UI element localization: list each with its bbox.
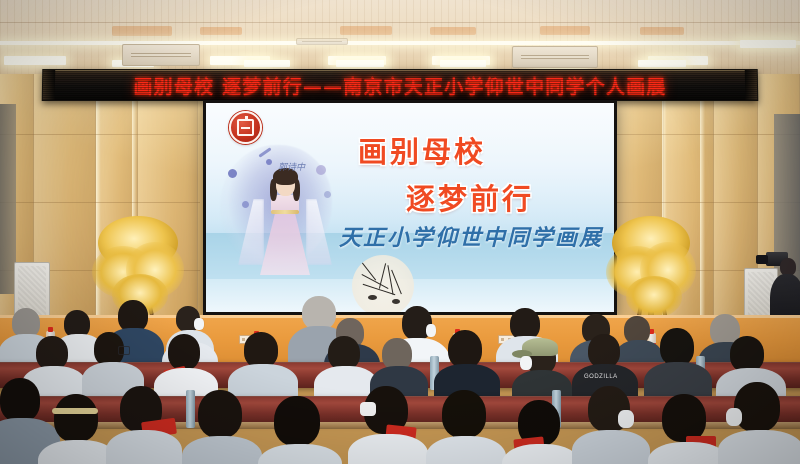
ceiling-warm-reflection: [200, 27, 242, 35]
seat-divider: [186, 390, 195, 428]
person-head: [448, 330, 482, 368]
face-mask: [726, 408, 742, 426]
ceiling-ac-vent: [122, 44, 200, 66]
person-body: [258, 444, 342, 464]
face-mask: [194, 318, 204, 330]
ceiling-light-strip: [0, 41, 800, 45]
led-frame-left: [43, 70, 56, 100]
person-body: [106, 430, 182, 464]
ceiling-light-panel: [440, 60, 486, 67]
shirt-text: GODZILLA: [584, 374, 618, 380]
camera-lens: [756, 255, 768, 264]
hair-band: [52, 408, 98, 414]
person-head: [660, 328, 694, 366]
face-mask: [426, 324, 436, 337]
gown-skirt: [260, 205, 310, 275]
wood-seam: [0, 134, 200, 135]
ceiling-light-panel: [336, 60, 384, 67]
hair-clip: [360, 402, 376, 416]
person-head: [442, 390, 486, 438]
wood-seam: [0, 202, 200, 203]
face-mask: [618, 410, 634, 428]
ceiling-light-panel: [244, 60, 290, 67]
led-banner-text: 画别母校 逐梦前行——南京市天正小学仰世中同学个人画展: [133, 72, 666, 99]
eyeglasses: [118, 346, 130, 355]
person-head: [198, 390, 242, 438]
person-body: [426, 436, 506, 464]
person-body: [182, 436, 262, 464]
ceiling-warm-reflection: [112, 26, 172, 36]
person-head: [662, 394, 706, 442]
school-emblem: [229, 111, 262, 144]
person-head: [734, 382, 780, 432]
ceiling-ac-vent: [512, 46, 598, 68]
person-head: [54, 394, 98, 442]
led-banner: 画别母校 逐梦前行——南京市天正小学仰世中同学个人画展: [42, 69, 759, 101]
person-body: [572, 430, 650, 464]
person-head: [0, 378, 40, 422]
slide-headline-line2: 逐梦前行: [406, 176, 534, 218]
person-head: [168, 334, 200, 370]
projection-screen: 郭诗中 画别母校 逐梦前行 天正小学仰世中同学画展: [206, 103, 614, 312]
wood-trim-highlight: [700, 74, 705, 334]
wood-seam: [600, 202, 800, 203]
person-head: [274, 396, 320, 446]
ceiling-ac-vent: [296, 38, 348, 45]
ceiling-warm-reflection: [430, 27, 476, 35]
person-head: [36, 336, 68, 370]
ceiling-light-panel: [4, 56, 66, 65]
slide-headline-line1: 画别母校: [358, 129, 486, 171]
person-head: [244, 332, 278, 368]
person-body: [348, 434, 428, 464]
face-mask: [520, 356, 532, 370]
ceiling-warm-reflection: [540, 26, 590, 35]
ceiling-seam: [0, 22, 800, 23]
person-head: [302, 296, 336, 330]
person-body: [648, 442, 728, 464]
person-body: [718, 430, 800, 464]
splash-dot: [242, 201, 249, 208]
slide-script-text: 郭诗中: [278, 163, 336, 193]
ceiling-warm-reflection: [340, 26, 392, 35]
gown-belt: [271, 210, 299, 214]
splash-dot: [228, 169, 237, 178]
wood-seam: [600, 134, 800, 135]
slide-subtitle: 天正小学仰世中同学画展: [339, 220, 603, 252]
led-frame-right: [745, 70, 758, 100]
school-emblem-glyph: [237, 119, 254, 136]
audience-area: GODZILLA: [0, 300, 800, 464]
person-head: [730, 336, 764, 372]
person-head: [588, 334, 620, 368]
ceiling-warm-reflection: [640, 27, 684, 35]
person-head: [328, 336, 360, 370]
ceiling: [0, 0, 800, 78]
ceiling-light-panel: [740, 40, 796, 48]
auditorium-photo-scene: 画别母校 逐梦前行——南京市天正小学仰世中同学个人画展: [0, 0, 800, 464]
ceiling-light-panel: [638, 60, 686, 67]
projection-screen-frame: 郭诗中 画别母校 逐梦前行 天正小学仰世中同学画展: [203, 100, 617, 315]
